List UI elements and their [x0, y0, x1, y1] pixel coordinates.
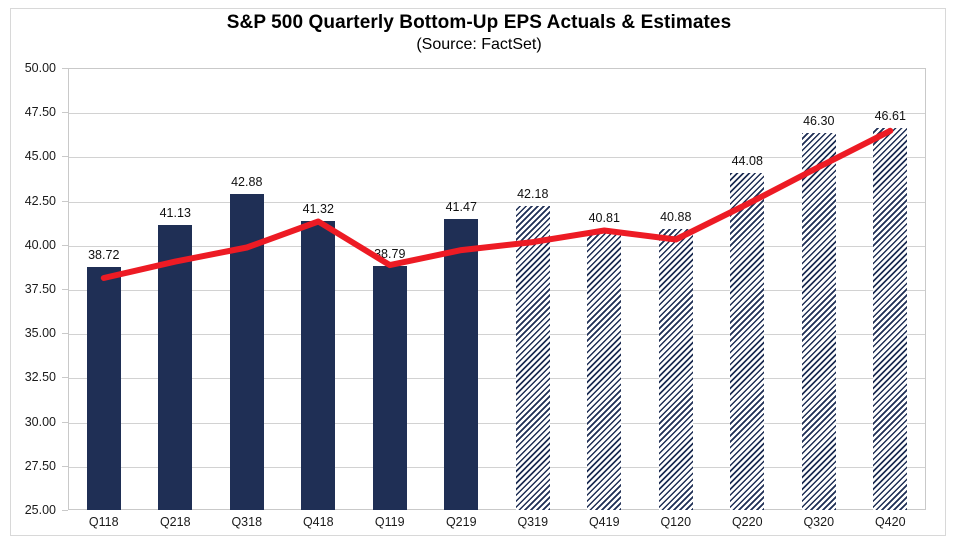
y-axis-tick-label: 47.50 — [25, 105, 56, 119]
chart-container: S&P 500 Quarterly Bottom-Up EPS Actuals … — [0, 0, 958, 555]
gridline — [69, 423, 925, 424]
x-axis-tick-label: Q419 — [589, 515, 620, 529]
y-axis-tick-label: 37.50 — [25, 282, 56, 296]
gridline — [69, 378, 925, 379]
y-axis-tick-mark — [62, 68, 68, 69]
gridline — [69, 157, 925, 158]
gridline — [69, 334, 925, 335]
y-axis-tick-label: 25.00 — [25, 503, 56, 517]
y-axis-tick-mark — [62, 422, 68, 423]
y-axis-tick-label: 32.50 — [25, 370, 56, 384]
gridline — [69, 202, 925, 203]
x-axis-tick-label: Q220 — [732, 515, 763, 529]
y-axis-tick-mark — [62, 156, 68, 157]
x-axis: Q118Q218Q318Q418Q119Q219Q319Q419Q120Q220… — [68, 511, 926, 535]
y-axis-tick-mark — [62, 377, 68, 378]
y-axis-tick-label: 45.00 — [25, 149, 56, 163]
x-axis-tick-label: Q318 — [231, 515, 262, 529]
y-axis-tick-mark — [62, 466, 68, 467]
gridline — [69, 246, 925, 247]
y-axis-tick-label: 30.00 — [25, 415, 56, 429]
y-axis-tick-mark — [62, 112, 68, 113]
x-axis-tick-label: Q218 — [160, 515, 191, 529]
y-axis-tick-label: 40.00 — [25, 238, 56, 252]
x-axis-tick-label: Q420 — [875, 515, 906, 529]
y-axis-tick-mark — [62, 245, 68, 246]
x-axis-tick-label: Q120 — [660, 515, 691, 529]
y-axis-tick-label: 35.00 — [25, 326, 56, 340]
x-axis-tick-label: Q418 — [303, 515, 334, 529]
y-axis-tick-label: 27.50 — [25, 459, 56, 473]
y-axis-tick-mark — [62, 201, 68, 202]
y-axis-tick-label: 50.00 — [25, 61, 56, 75]
gridline — [69, 113, 925, 114]
y-axis-tick-mark — [62, 333, 68, 334]
y-axis-tick-label: 42.50 — [25, 194, 56, 208]
gridline — [69, 467, 925, 468]
x-axis-tick-label: Q319 — [517, 515, 548, 529]
plot-area — [68, 68, 926, 510]
x-axis-tick-label: Q119 — [375, 515, 405, 529]
x-axis-tick-label: Q320 — [803, 515, 834, 529]
y-axis: 50.0047.5045.0042.5040.0037.5035.0032.50… — [0, 68, 68, 510]
y-axis-tick-mark — [62, 289, 68, 290]
x-axis-tick-label: Q219 — [446, 515, 477, 529]
gridline — [69, 290, 925, 291]
x-axis-tick-label: Q118 — [89, 515, 119, 529]
